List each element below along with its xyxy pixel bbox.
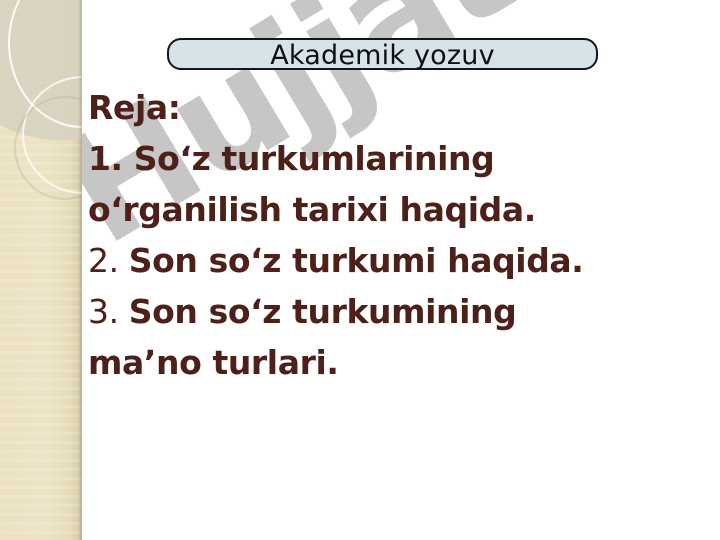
body-line: Reja: [88, 82, 712, 133]
line-content: o‘rganilish tarixi haqida. [88, 190, 536, 229]
body-line: 1. So‘z turkumlarining [88, 133, 712, 184]
page-title: Akademik yozuv [167, 33, 598, 77]
body-line: 3. Son so‘z turkumining [88, 286, 712, 337]
line-number: 2. [88, 241, 129, 280]
body-line: o‘rganilish tarixi haqida. [88, 184, 712, 235]
line-number: 1. [88, 139, 134, 178]
watermark-number: 24 [449, 0, 711, 30]
decorative-sidebar [0, 0, 82, 540]
body-text-block: Reja: 1. So‘z turkumlarining o‘rganilish… [88, 82, 712, 388]
body-line: ma’no turlari. [88, 337, 712, 388]
line-content: ma’no turlari. [88, 343, 339, 382]
sidebar-edge-shadow [78, 0, 82, 540]
line-content: Son so‘z turkumi haqida. [129, 241, 584, 280]
slide-canvas: Hujjat24 Akademik yozuv Reja: 1. So‘z tu… [0, 0, 720, 540]
body-line: 2. Son so‘z turkumi haqida. [88, 235, 712, 286]
line-content: So‘z turkumlarining [134, 139, 495, 178]
line-number: 3. [88, 292, 129, 331]
line-content: Reja: [88, 88, 181, 127]
line-content: Son so‘z turkumining [129, 292, 517, 331]
